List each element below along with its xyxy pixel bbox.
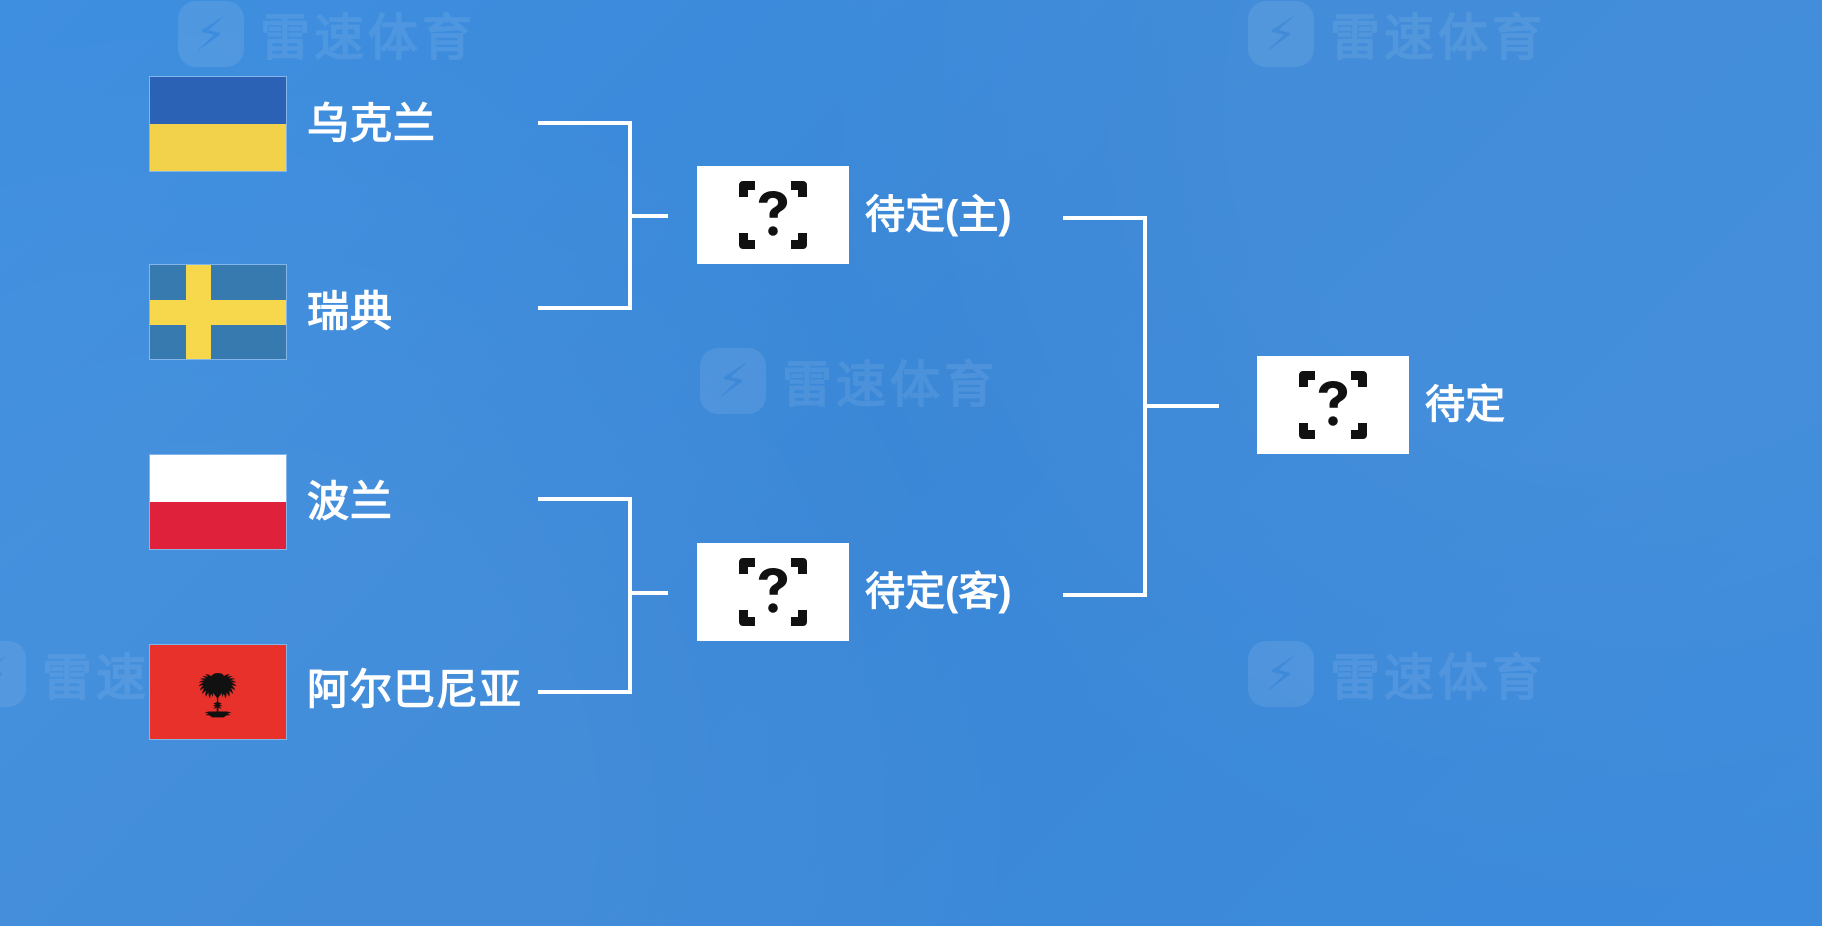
sweden-flag-icon	[150, 265, 286, 359]
lightning-bolt-logo-icon: ⚡	[178, 1, 244, 67]
team-label-sweden: 瑞典	[307, 291, 393, 333]
team-label-albania: 阿尔巴尼亚	[307, 669, 522, 711]
bracket-canvas: ⚡ 雷速体育 ⚡ 雷速体育 ⚡ 雷速体育 ⚡ 雷速体育 ⚡ 雷速体育 乌克兰 瑞…	[0, 0, 1822, 926]
bracket-line-semifinal-top	[628, 214, 668, 218]
watermark-text: 雷速体育	[782, 345, 998, 417]
watermark-text: 雷速体育	[260, 0, 476, 70]
slot-label-tbd-winner: 待定	[1425, 385, 1505, 425]
watermark-text: 雷速体育	[1330, 0, 1546, 70]
bracket-line-albania	[538, 690, 632, 694]
lightning-bolt-logo-icon: ⚡	[1248, 641, 1314, 707]
bracket-connector-pair2	[628, 497, 632, 694]
bracket-line-winner	[1143, 404, 1219, 408]
question-scan-icon	[697, 543, 849, 641]
slot-label-tbd-home: 待定(主)	[865, 195, 1012, 235]
watermark: ⚡ 雷速体育	[700, 345, 998, 417]
bracket-line-ukraine	[538, 121, 632, 125]
question-scan-icon	[697, 166, 849, 264]
bracket-line-sweden	[538, 306, 632, 310]
bracket-line-semifinal-bottom	[628, 591, 668, 595]
bracket-line-tbd-home	[1063, 216, 1147, 220]
slot-tbd-winner[interactable]: 待定	[1257, 356, 1505, 454]
slot-label-tbd-away: 待定(客)	[865, 572, 1012, 612]
watermark: ⚡ 雷速体育	[1248, 638, 1546, 710]
watermark: ⚡ 雷速体育	[178, 0, 476, 70]
ukraine-flag-icon	[150, 77, 286, 171]
poland-flag-icon	[150, 455, 286, 549]
albania-eagle-icon	[179, 664, 257, 720]
team-label-ukraine: 乌克兰	[307, 103, 436, 145]
slot-tbd-home[interactable]: 待定(主)	[697, 166, 1012, 264]
bracket-line-tbd-away	[1063, 593, 1147, 597]
lightning-bolt-logo-icon: ⚡	[700, 348, 766, 414]
question-scan-icon	[1257, 356, 1409, 454]
lightning-bolt-logo-icon: ⚡	[0, 641, 26, 707]
slot-tbd-away[interactable]: 待定(客)	[697, 543, 1012, 641]
albania-flag-icon	[150, 645, 286, 739]
lightning-bolt-logo-icon: ⚡	[1248, 1, 1314, 67]
bracket-line-poland	[538, 497, 632, 501]
team-label-poland: 波兰	[307, 481, 393, 523]
watermark: ⚡ 雷速体育	[1248, 0, 1546, 70]
watermark-text: 雷速体育	[1330, 638, 1546, 710]
